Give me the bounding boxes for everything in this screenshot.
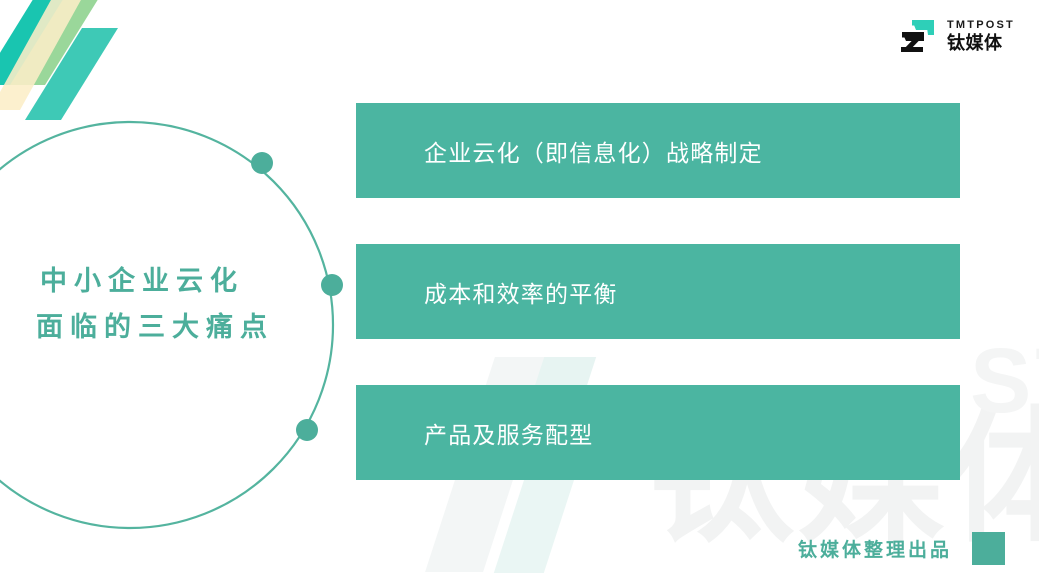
- corner-ribbon-decoration: [0, 0, 130, 120]
- watermark-english-text: ST: [970, 335, 1039, 427]
- heading-line-2: 面临的三大痛点: [36, 304, 274, 350]
- footer-credit-text: 钛媒体整理出品: [798, 535, 952, 562]
- slide-canvas: 钛媒体 ST 中小企业云化 面临的三大痛点 企业云化（即信息化）战略制定 成本和…: [0, 0, 1039, 584]
- pain-point-label-1: 企业云化（即信息化）战略制定: [424, 134, 763, 168]
- circle-node-3: [296, 419, 318, 441]
- tmtpost-logo-icon: [896, 14, 940, 58]
- circle-node-2: [321, 274, 343, 296]
- logo-chinese-text: 钛媒体: [947, 33, 1015, 54]
- pain-point-bar-3[interactable]: 产品及服务配型: [356, 385, 960, 480]
- logo-text-block: TMTPOST 钛媒体: [947, 19, 1015, 54]
- pain-point-bar-list: 企业云化（即信息化）战略制定 成本和效率的平衡 产品及服务配型: [356, 103, 960, 480]
- circle-node-1: [251, 152, 273, 174]
- logo-english-text: TMTPOST: [947, 19, 1015, 31]
- footer-credit: 钛媒体整理出品: [798, 532, 1005, 565]
- brand-logo: TMTPOST 钛媒体: [896, 12, 1011, 60]
- pain-point-bar-1[interactable]: 企业云化（即信息化）战略制定: [356, 103, 960, 198]
- slide-heading: 中小企业云化 面临的三大痛点: [40, 258, 274, 351]
- pain-point-label-3: 产品及服务配型: [424, 416, 593, 450]
- pain-point-label-2: 成本和效率的平衡: [424, 275, 618, 309]
- footer-accent-square: [972, 532, 1005, 565]
- pain-point-bar-2[interactable]: 成本和效率的平衡: [356, 244, 960, 339]
- heading-line-1: 中小企业云化: [40, 258, 274, 304]
